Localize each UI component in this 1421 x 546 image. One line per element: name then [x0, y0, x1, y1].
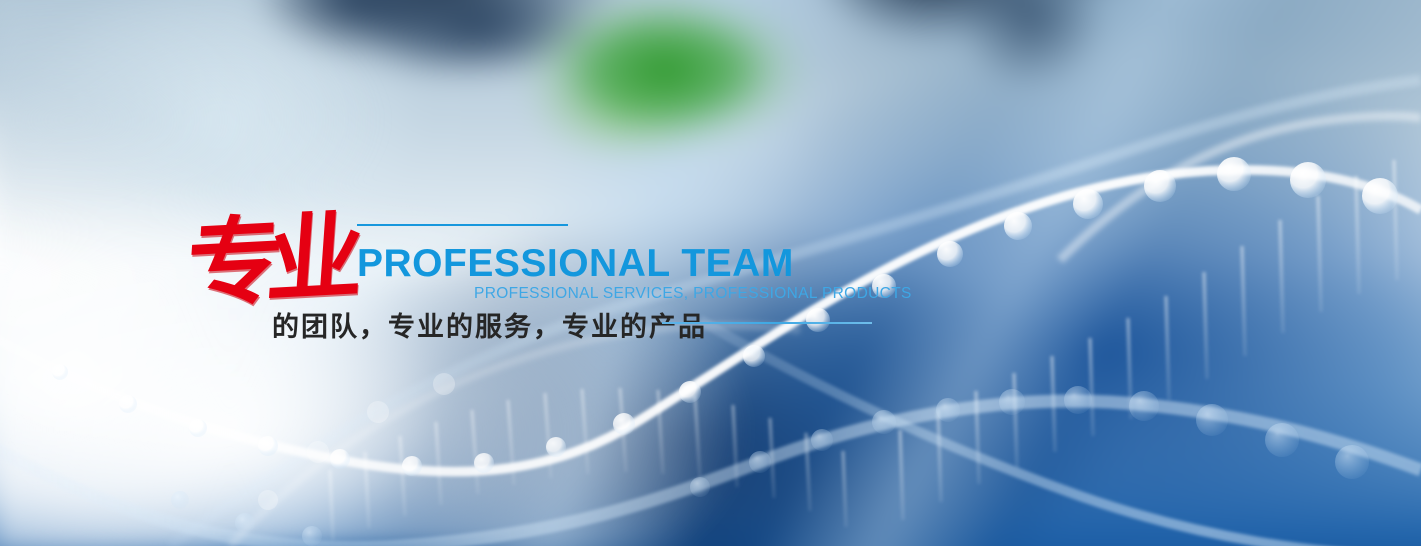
banner-text-block: 专业 PROFESSIONAL TEAM PROFESSIONAL SERVIC… — [0, 0, 1421, 546]
banner-headline: PROFESSIONAL TEAM — [357, 242, 794, 286]
professional-team-banner: 专业 PROFESSIONAL TEAM PROFESSIONAL SERVIC… — [0, 0, 1421, 546]
banner-subheadline: PROFESSIONAL SERVICES, PROFESSIONAL PROD… — [474, 285, 912, 303]
top-divider-rule — [357, 224, 568, 226]
banner-chinese-tagline: 的团队，专业的服务，专业的产品 — [272, 305, 707, 344]
bottom-divider-rule — [662, 322, 872, 324]
